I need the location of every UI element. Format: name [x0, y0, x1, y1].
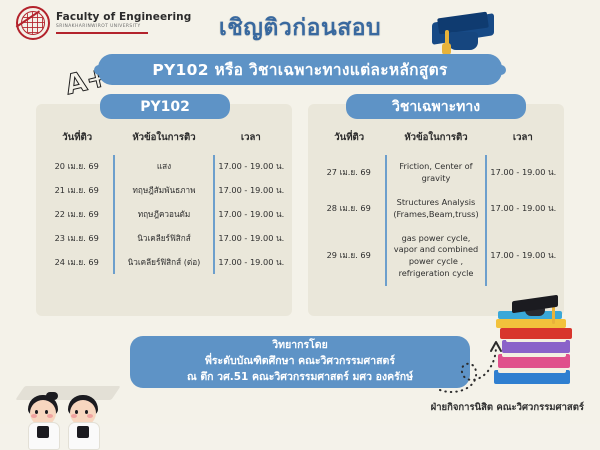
two-students-illustration-icon: [26, 326, 122, 396]
cell-date: 23 เม.ย. 69: [40, 227, 114, 251]
cell-time: 17.00 - 19.00 น.: [486, 227, 560, 287]
cell-topic: นิวเคลียร์ฟิสิกส์ (ต่อ): [114, 251, 213, 275]
table-header-row: วันที่ติว หัวข้อในการติว เวลา: [312, 126, 560, 155]
cell-topic: นิวเคลียร์ฟิสิกส์: [114, 227, 213, 251]
table-row: 24 เม.ย. 69 นิวเคลียร์ฟิสิกส์ (ต่อ) 17.0…: [40, 251, 288, 275]
footer-line-3: ณ ตึก วศ.51 คณะวิศวกรรมศาสตร์ มศว องครัก…: [187, 370, 413, 386]
col-header-topic: หัวข้อในการติว: [386, 126, 485, 155]
stack-of-books-with-cap-icon: [492, 292, 584, 388]
cell-date: 29 เม.ย. 69: [312, 227, 386, 287]
table-row: 28 เม.ย. 69 Structures Analysis (Frames,…: [312, 191, 560, 227]
footer-line-1: วิทยากรโดย: [272, 338, 327, 354]
table-header-row: วันที่ติว หัวข้อในการติว เวลา: [40, 126, 288, 155]
cell-date: 27 เม.ย. 69: [312, 155, 386, 191]
cell-date: 28 เม.ย. 69: [312, 191, 386, 227]
major-pill-label: วิชาเฉพาะทาง: [346, 94, 526, 119]
cell-time: 17.00 - 19.00 น.: [214, 203, 288, 227]
cell-topic: ทฤษฎีสัมพันธภาพ: [114, 179, 213, 203]
table-row: 20 เม.ย. 69 แสง 17.00 - 19.00 น.: [40, 155, 288, 179]
page-title: เชิญติวก่อนสอบ: [0, 10, 600, 46]
cell-topic: แสง: [114, 155, 213, 179]
cell-date: 22 เม.ย. 69: [40, 203, 114, 227]
organizer-credit: ฝ่ายกิจการนิสิต คณะวิศวกรรมศาสตร์: [431, 400, 584, 415]
py102-schedule-table: วันที่ติว หัวข้อในการติว เวลา 20 เม.ย. 6…: [40, 126, 288, 274]
footer-line-2: พี่ระดับบัณฑิตศึกษา คณะวิศวกรรมศาสตร์: [205, 354, 395, 370]
cell-topic: Structures Analysis (Frames,Beam,truss): [386, 191, 485, 227]
py102-pill-label: PY102: [100, 94, 230, 119]
graduation-cap-icon: [432, 14, 494, 58]
table-row: 29 เม.ย. 69 gas power cycle, vapor and c…: [312, 227, 560, 287]
col-header-time: เวลา: [486, 126, 560, 155]
table-row: 23 เม.ย. 69 นิวเคลียร์ฟิสิกส์ 17.00 - 19…: [40, 227, 288, 251]
cell-time: 17.00 - 19.00 น.: [214, 179, 288, 203]
cell-topic: gas power cycle, vapor and combined powe…: [386, 227, 485, 287]
cell-topic: ทฤษฎีควอนตัม: [114, 203, 213, 227]
col-header-date: วันที่ติว: [312, 126, 386, 155]
cell-time: 17.00 - 19.00 น.: [214, 155, 288, 179]
cell-time: 17.00 - 19.00 น.: [486, 155, 560, 191]
poster-canvas: Faculty of Engineering SRINAKHARINWIROT …: [0, 0, 600, 424]
col-header-date: วันที่ติว: [40, 126, 114, 155]
cell-time: 17.00 - 19.00 น.: [214, 227, 288, 251]
speaker-footer-banner: วิทยากรโดย พี่ระดับบัณฑิตศึกษา คณะวิศวกร…: [130, 336, 470, 388]
major-schedule-table: วันที่ติว หัวข้อในการติว เวลา 27 เม.ย. 6…: [312, 126, 560, 286]
col-header-topic: หัวข้อในการติว: [114, 126, 213, 155]
table-row: 22 เม.ย. 69 ทฤษฎีควอนตัม 17.00 - 19.00 น…: [40, 203, 288, 227]
cell-topic: Friction, Center of gravity: [386, 155, 485, 191]
table-row: 27 เม.ย. 69 Friction, Center of gravity …: [312, 155, 560, 191]
cell-date: 24 เม.ย. 69: [40, 251, 114, 275]
subject-banner: PY102 หรือ วิชาเฉพาะทางแต่ละหลักสูตร: [98, 54, 502, 85]
table-row: 21 เม.ย. 69 ทฤษฎีสัมพันธภาพ 17.00 - 19.0…: [40, 179, 288, 203]
cell-date: 21 เม.ย. 69: [40, 179, 114, 203]
col-header-time: เวลา: [214, 126, 288, 155]
cell-date: 20 เม.ย. 69: [40, 155, 114, 179]
cell-time: 17.00 - 19.00 น.: [214, 251, 288, 275]
cell-time: 17.00 - 19.00 น.: [486, 191, 560, 227]
